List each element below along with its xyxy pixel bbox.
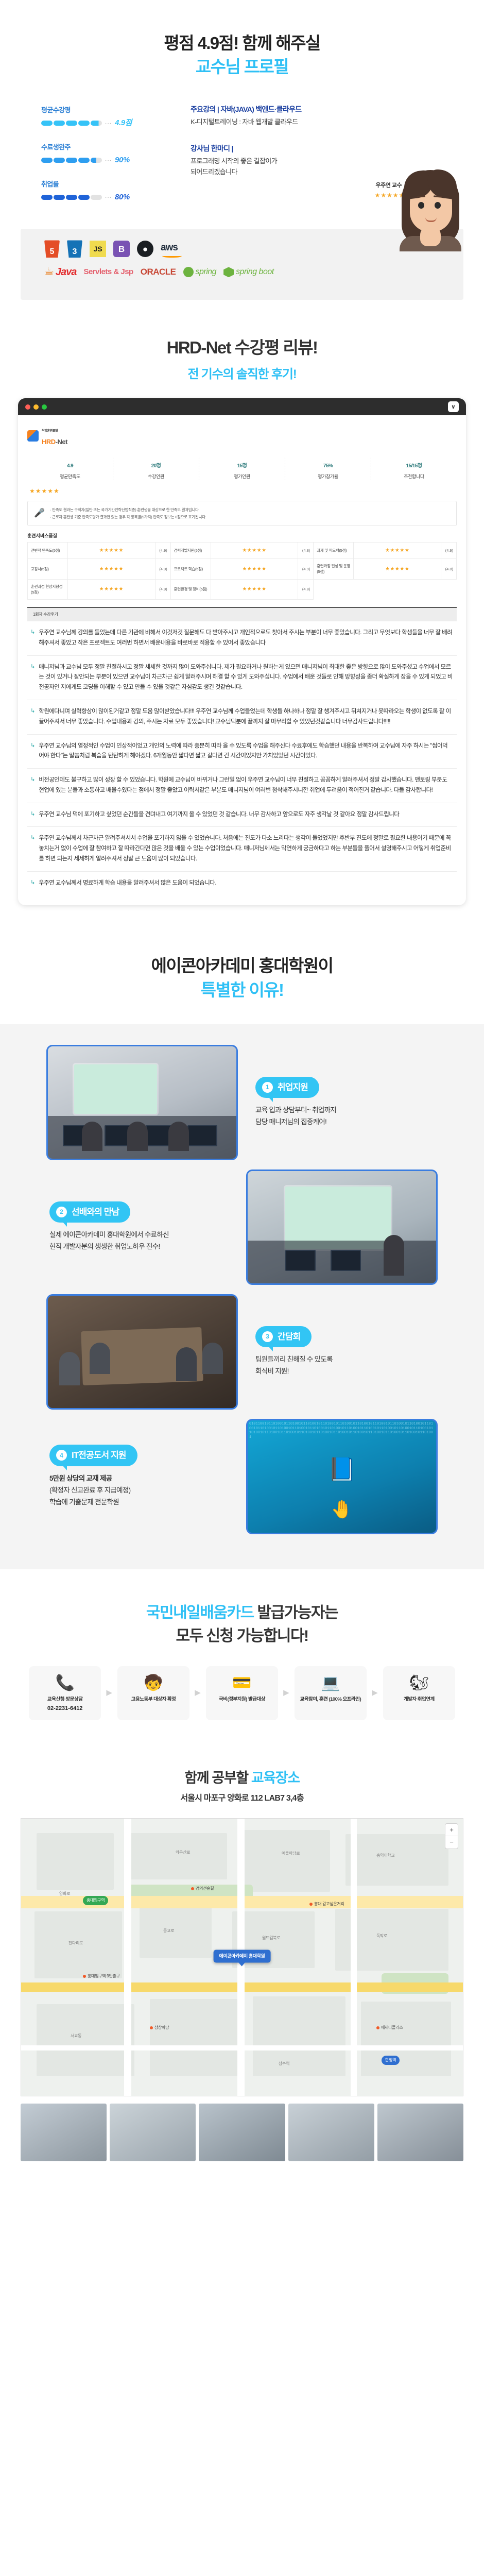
map-label: 어울마당로 <box>282 1851 300 1857</box>
microphone-icon: 🎤 <box>34 506 45 520</box>
hrdnet-logo-small: 직업훈련포털 <box>42 430 58 433</box>
map-label: 동교로 <box>163 1928 174 1934</box>
spring-boot-icon: spring boot <box>223 266 274 278</box>
window-controls[interactable] <box>25 404 47 410</box>
hrdnet-stats-strip: 4.9 평균만족도 20명 수강인원 15명 평가인원 75% 평가참가율 <box>27 453 457 482</box>
github-icon: ● <box>137 241 153 257</box>
hrdnet-logo-suffix: -Net <box>56 438 67 446</box>
feature-item-3: 3 간담회 팀원들끼리 친해질 수 있도록 회식비 지원! <box>46 1294 438 1410</box>
hrdnet-logo: 직업훈련포털 HRD-Net <box>27 423 457 448</box>
feature-desc-line2: 담당 매니저님의 집중케어! <box>255 1116 428 1128</box>
stat-label: 평균수강평 <box>41 105 191 115</box>
star-rating: ★★★★★ <box>211 543 298 559</box>
table-row: 전반적 만족도(5점) ★★★★★ (4.9) 경력개발지원(5점) ★★★★★… <box>28 543 457 559</box>
list-item: ↳ 비전공인데도 불구하고 많이 성장 할 수 있었습니다. 학원에 교수님이 … <box>27 769 457 803</box>
card-title-tail: 발급가능자는 <box>254 1604 338 1621</box>
poi-dot-icon <box>309 1903 313 1906</box>
feature-desc-line2: 회식비 지원! <box>255 1366 428 1378</box>
feature-desc-line1: 교육 입과 상담부터~ 취업까지 <box>255 1105 428 1116</box>
location-address: 서울시 마포구 양화로 112 LAB7 3,4층 <box>0 1792 484 1805</box>
badge-number: 4 <box>56 1450 67 1461</box>
spring-icon: spring <box>183 266 217 278</box>
browser-window: ∨ 직업훈련포털 HRD-Net 4.9 평균만족도 20명 <box>18 398 466 905</box>
review-text: 매니저님과 교수님 모두 정말 친절하시고 정말 세세한 것까지 많이 도와주십… <box>39 663 453 693</box>
card-step-label: 교육신청·방문상담 <box>32 1696 98 1703</box>
location-title: 함께 공부할 교육장소 <box>0 1768 484 1789</box>
arrow-right-icon: ▶ <box>372 1687 378 1699</box>
stat-dots: ··· <box>105 120 112 127</box>
star-rating: ★★★★★ <box>68 543 155 559</box>
stat-label: 취업률 <box>41 179 191 190</box>
card-step-employment[interactable]: 🐿 개발자 취업연계 <box>383 1666 455 1720</box>
badge-number: 3 <box>262 1331 273 1342</box>
arrow-right-icon: ▶ <box>106 1687 112 1699</box>
professor-profile-section: 평점 4.9점! 함께 해주실 교수님 프로필 평균수강평 ··· 4.9점 <box>0 0 484 305</box>
stat-value: 4.9점 <box>115 117 132 129</box>
teacher-avatar <box>397 168 463 245</box>
arrow-icon: ↳ <box>30 775 35 796</box>
location-title-accent: 교육장소 <box>251 1770 300 1786</box>
arrow-icon: ↳ <box>30 741 35 762</box>
star-rating: ★★★★★ <box>68 559 155 580</box>
card-steps-row: 📞 교육신청·방문상담 02-2231-6412 ▶ 🧒 고용노동부 대상자 확… <box>29 1666 455 1720</box>
person-sparkle-icon: 🧒 <box>120 1674 186 1691</box>
poi-dot-icon <box>83 1975 86 1978</box>
map-label: 월드컵북로 <box>262 1935 280 1941</box>
poi-dot-icon <box>150 2026 153 2029</box>
map-label: 와우산로 <box>176 1850 190 1856</box>
hrd-stat-cell: 20명 수강인원 <box>113 457 199 480</box>
poi-dot-icon <box>376 2026 379 2029</box>
map-poi[interactable]: 메세나폴리스 <box>376 2025 403 2031</box>
feature-desc-line1: 5만원 상당의 교재 제공 <box>49 1473 229 1485</box>
notice-line: · 근로자 훈련생 기준 만족도평가 결과만 있는 경우 각 항목별(9가지) … <box>50 514 206 520</box>
features-list: 1 취업지원 교육 입과 상담부터~ 취업까지 담당 매니저님의 집중케어! <box>46 1045 438 1534</box>
card-step-label: 개발자 취업연계 <box>386 1696 452 1703</box>
review-text: 우주연 교수님의 열정적인 수업이 인상적이었고 개인의 노력에 따라 충분히 … <box>39 741 453 762</box>
browser-titlebar: ∨ <box>18 398 466 415</box>
arrow-right-icon: ▶ <box>283 1687 289 1699</box>
feature-item-2: 2 선배와의 만남 실제 에이콘아카데미 홍대학원에서 수료하신 현직 개발자분… <box>46 1170 438 1285</box>
location-map[interactable]: 양화로 와우산로 어울마당로 홍익대학교 잔다리로 동교로 월드컵북로 독막로 … <box>21 1818 463 2096</box>
hrd-stat-cell: 4.9 평균만족도 <box>27 457 113 480</box>
location-title-plain: 함께 공부할 <box>184 1770 251 1786</box>
course-body: K-디지털트레이닝 : 자바 웹개발 클라우드 <box>191 117 433 128</box>
star-rating: ★★★★★ <box>211 579 298 600</box>
oracle-icon: ORACLE <box>141 265 176 279</box>
telephone-booth-icon: 📞 <box>32 1674 98 1691</box>
map-poi[interactable]: 홍대입구역 9번출구 <box>83 1973 120 1979</box>
map-station-hapjeong[interactable]: 합정역 <box>382 2056 400 2065</box>
message-line1: 프로그래밍 시작의 좋은 길잡이가 <box>191 156 433 167</box>
stat-dots: ··· <box>105 194 112 201</box>
list-item: ↳ 우주연 교수님의 열정적인 수업이 인상적이었고 개인의 노력에 따라 충분… <box>27 735 457 769</box>
arrow-icon: ↳ <box>30 707 35 727</box>
profile-title-line1: 평점 4.9점! 함께 해주실 <box>0 32 484 55</box>
laptop-icon: 💻 <box>298 1674 364 1691</box>
contact-phone-number[interactable]: 02-2231-6412 <box>32 1704 98 1713</box>
map-label: 상수역 <box>279 2061 289 2067</box>
feature-item-1: 1 취업지원 교육 입과 상담부터~ 취업까지 담당 매니저님의 집중케어! <box>46 1045 438 1160</box>
feature-badge-3: 3 간담회 <box>255 1326 312 1348</box>
completion-bar <box>41 158 102 163</box>
notice-box: 🎤 · 만족도 결과는 구직자(일반 또는 국가기간전략산업직종) 훈련생을 대… <box>27 501 457 526</box>
bootstrap-icon: B <box>113 241 130 257</box>
gallery-image <box>199 2104 285 2161</box>
list-item: ↳ 우주연 교수님께서 명료하게 학습 내용을 알려주셔서 많은 도움이 되었습… <box>27 872 457 895</box>
feature-desc-line1: 팀원들끼리 친해질 수 있도록 <box>255 1354 428 1366</box>
review-list-header: 1회차 수강후기 <box>27 607 457 621</box>
hrdnet-title: HRD-Net 수강평 리뷰! <box>0 335 484 361</box>
course-heading: 주요강의 | 자바(JAVA) 백엔드·클라우드 <box>191 104 433 115</box>
card-step-label: 교육참여, 훈련 (100% 오프라인) <box>298 1696 364 1703</box>
message-heading: 강사님 한마디 | <box>191 143 433 154</box>
list-item: ↳ 우주연 교수님께 강의를 들었는데 다른 기관에 비해서 이것저것 질문해도… <box>27 621 457 656</box>
map-pin-academy[interactable]: 에이콘아카데미 홍대학원 <box>214 1950 271 1963</box>
minimize-icon[interactable] <box>33 404 39 410</box>
gallery-image <box>110 2104 196 2161</box>
feature-badge-2: 2 선배와의 만남 <box>49 1201 130 1223</box>
notice-line: · 만족도 결과는 구직자(일반 또는 국가기간전략산업직종) 훈련생을 대상으… <box>50 506 206 513</box>
list-item: ↳ 매니저님과 교수님 모두 정말 친절하시고 정말 세세한 것까지 많이 도와… <box>27 656 457 700</box>
css3-icon: CSS3 <box>67 240 82 258</box>
feature-photo-team-dinner <box>46 1294 238 1410</box>
feature-desc-line1: 실제 에이콘아카데미 홍대학원에서 수료하신 <box>49 1229 229 1241</box>
html5-icon: HTML5 <box>44 240 60 258</box>
badge-label: 간담회 <box>278 1330 300 1344</box>
star-rating: ★★★★★ <box>68 579 155 600</box>
map-poi[interactable]: 홍대 걷고싶은거리 <box>309 1901 344 1907</box>
message-line2: 되어드리겠습니다 <box>191 167 433 178</box>
map-zoom-controls[interactable]: + − <box>445 1823 458 1849</box>
star-rating: ★★★★★ <box>354 543 441 559</box>
star-rating: ★★★★★ <box>211 559 298 580</box>
profile-stats: 평균수강평 ··· 4.9점 수료생완주 <box>21 103 191 216</box>
card-step-issue[interactable]: 💳 국비(정부지원) 발급대상 <box>206 1666 278 1720</box>
stat-item-completion: 수료생완주 ··· 90% <box>41 142 191 166</box>
book-icon: 📘 <box>328 1453 356 1487</box>
card-step-label: 국비(정부지원) 발급대상 <box>209 1696 275 1703</box>
stat-value: 80% <box>115 192 130 204</box>
card-step-training[interactable]: 💻 교육참여, 훈련 (100% 오프라인) <box>295 1666 367 1720</box>
arrow-icon: ↳ <box>30 628 35 649</box>
hrdnet-mark-icon <box>27 430 39 442</box>
review-text: 우주연 교수님께서 명료하게 학습 내용을 알려주셔서 많은 도움이 되었습니다… <box>39 878 216 889</box>
feature-item-4: 0101100101101001011010010110100101101001… <box>46 1419 438 1534</box>
map-label: 독막로 <box>376 1933 387 1939</box>
landing-page: 평점 4.9점! 함께 해주실 교수님 프로필 평균수강평 ··· 4.9점 <box>0 0 484 2177</box>
hand-icon: 🤚 <box>331 1497 353 1523</box>
review-text: 학원에다니며 실력향상이 많이된거같고 정말 도움 많이받았습니다!!! 우주연… <box>39 707 453 727</box>
badge-label: 선배와의 만남 <box>72 1206 119 1219</box>
map-label: 양화로 <box>59 1891 70 1897</box>
profile-title-line2: 교수님 프로필 <box>0 56 484 78</box>
zoom-out-button[interactable]: − <box>445 1836 458 1849</box>
star-rating: ★★★★★ <box>354 559 441 580</box>
map-label: 잔다리로 <box>68 1940 83 1946</box>
aws-icon: aws <box>161 241 178 258</box>
card-title-accent: 국민내일배움카드 <box>146 1604 254 1621</box>
feature-photo-senior-meeting <box>246 1170 438 1285</box>
hrdnet-subtitle: 전 기수의 솔직한 후기! <box>0 365 484 384</box>
java-icon: ☕Java <box>44 264 76 280</box>
arrow-right-icon: ▶ <box>195 1687 201 1699</box>
tech-logo-strip: HTML5 CSS3 JS B ● aws ☕Java Servlets & J… <box>21 229 463 300</box>
map-station-hongdae[interactable]: 홍대입구역 <box>83 1896 108 1905</box>
feature-badge-4: 4 IT전공도서 지원 <box>49 1445 137 1466</box>
tech-logo-row-2: ☕Java Servlets & Jsp ORACLE spring sprin… <box>44 264 463 280</box>
list-item: ↳ 학원에다니며 실력향상이 많이된거같고 정말 도움 많이받았습니다!!! 우… <box>27 700 457 735</box>
stat-label: 수료생완주 <box>41 142 191 152</box>
gallery-image <box>21 2104 107 2161</box>
table-row: 훈련과정 현장지향성(5점) ★★★★★ (4.9) 훈련환경 및 장비(5점)… <box>28 579 457 600</box>
card-step-consult[interactable]: 📞 교육신청·방문상담 02-2231-6412 <box>29 1666 101 1720</box>
javascript-icon: JS <box>90 241 106 257</box>
review-text: 우주연 교수님 덕에 포기하고 싶었던 순간들을 견뎌내고 여기까지 올 수 있… <box>39 810 399 820</box>
facility-gallery <box>21 2104 463 2177</box>
browser-content: 직업훈련포털 HRD-Net 4.9 평균만족도 20명 수강인원 15명 <box>18 415 466 905</box>
feature-badge-1: 1 취업지원 <box>255 1077 319 1098</box>
servlets-jsp-icon: Servlets & Jsp <box>83 266 133 278</box>
feature-photo-classroom <box>46 1045 238 1160</box>
maximize-icon[interactable] <box>42 404 47 410</box>
overall-stars: ★★★★★ <box>27 482 457 496</box>
review-text: 우주연 교수님께 강의를 들었는데 다른 기관에 비해서 이것저것 질문해도 다… <box>39 628 453 649</box>
card-eligibility-section: 국민내일배움카드 발급가능자는 모두 신청 가능합니다! 📞 교육신청·방문상담… <box>0 1569 484 1744</box>
badge-label: IT전공도서 지원 <box>72 1449 126 1462</box>
special-title-line1: 에이콘아카데미 홍대학원이 <box>0 955 484 977</box>
hrd-stat-cell: 15/15명 추천합니다 <box>371 457 457 480</box>
poi-dot-icon <box>191 1887 194 1890</box>
ratings-table: 전반적 만족도(5점) ★★★★★ (4.9) 경력개발지원(5점) ★★★★★… <box>27 542 457 600</box>
feature-desc-line3: 학습에 기출문제 전문학원 <box>49 1497 229 1509</box>
map-poi[interactable]: 경의선숲길 <box>191 1886 214 1892</box>
squirrel-mascot-icon: 🐿 <box>386 1674 452 1691</box>
card-title-line1: 국민내일배움카드 발급가능자는 <box>0 1602 484 1623</box>
map-poi[interactable]: 상상마당 <box>150 2025 169 2031</box>
map-label: 서교동 <box>71 2033 81 2039</box>
feature-desc-line2: (확정자 신고완료 후 지급예정) <box>49 1485 229 1497</box>
gallery-image <box>288 2104 374 2161</box>
feature-photo-it-book: 0101100101101001011010010110100101101001… <box>246 1419 438 1534</box>
location-section: 함께 공부할 교육장소 서울시 마포구 양화로 112 LAB7 3,4층 <box>0 1744 484 2177</box>
feature-desc-line2: 현직 개발자분의 생생한 취업노하우 전수! <box>49 1241 229 1253</box>
arrow-icon: ↳ <box>30 834 35 864</box>
arrow-icon: ↳ <box>30 810 35 820</box>
gallery-image <box>377 2104 463 2161</box>
zoom-in-button[interactable]: + <box>445 1824 458 1836</box>
list-item: ↳ 우주연 교수님께서 차근차근 알려주셔서서 수업을 포기하지 않을 수 있었… <box>27 827 457 871</box>
stat-value: 90% <box>115 155 130 166</box>
special-title-line2: 특별한 이유! <box>0 979 484 1002</box>
review-text: 비전공인데도 불구하고 많이 성장 할 수 있었습니다. 학원에 교수님이 바뀌… <box>39 775 453 796</box>
badge-number: 1 <box>262 1082 273 1093</box>
hrd-stat-cell: 15명 평가인원 <box>199 457 285 480</box>
badge-label: 취업지원 <box>278 1081 308 1094</box>
credit-card-icon: 💳 <box>209 1674 275 1691</box>
hrdnet-review-section: HRD-Net 수강평 리뷰! 전 기수의 솔직한 후기! ∨ 직업훈련포털 H… <box>0 305 484 926</box>
stat-dots: ··· <box>105 157 112 164</box>
ratings-table-caption: 훈련서비스품질 <box>27 533 457 540</box>
arrow-icon: ↳ <box>30 663 35 693</box>
list-item: ↳ 우주연 교수님 덕에 포기하고 싶었던 순간들을 견뎌내고 여기까지 올 수… <box>27 803 457 827</box>
special-reasons-section: 에이콘아카데미 홍대학원이 특별한 이유! <box>0 926 484 1569</box>
chevron-down-icon[interactable]: ∨ <box>448 401 459 412</box>
review-text: 우주연 교수님께서 차근차근 알려주셔서서 수업을 포기하지 않을 수 있었습니… <box>39 834 453 864</box>
profile-info: 주요강의 | 자바(JAVA) 백엔드·클라우드 K-디지털트레이닝 : 자바 … <box>191 103 433 177</box>
map-label: 홍익대학교 <box>376 1853 394 1859</box>
hrdnet-logo-main: HRD <box>42 438 56 446</box>
badge-number: 2 <box>56 1207 67 1217</box>
employment-bar <box>41 195 102 200</box>
table-row: 교강사(5점) ★★★★★ (4.9) 프로젝트 학습(5점) ★★★★★ (4… <box>28 559 457 580</box>
stat-item-rating: 평균수강평 ··· 4.9점 <box>41 105 191 129</box>
hrd-stat-cell: 75% 평가참가율 <box>285 457 371 480</box>
rating-bar <box>41 121 102 126</box>
arrow-icon: ↳ <box>30 878 35 889</box>
stat-item-employment: 취업률 ··· 80% <box>41 179 191 203</box>
avatar-hand-icon <box>420 226 441 246</box>
card-step-label: 고용노동부 대상자 확정 <box>120 1696 186 1703</box>
close-icon[interactable] <box>25 404 30 410</box>
profile-content: 평균수강평 ··· 4.9점 수료생완주 <box>21 103 463 216</box>
card-step-confirm[interactable]: 🧒 고용노동부 대상자 확정 <box>117 1666 189 1720</box>
card-title-line2: 모두 신청 가능합니다! <box>0 1624 484 1648</box>
